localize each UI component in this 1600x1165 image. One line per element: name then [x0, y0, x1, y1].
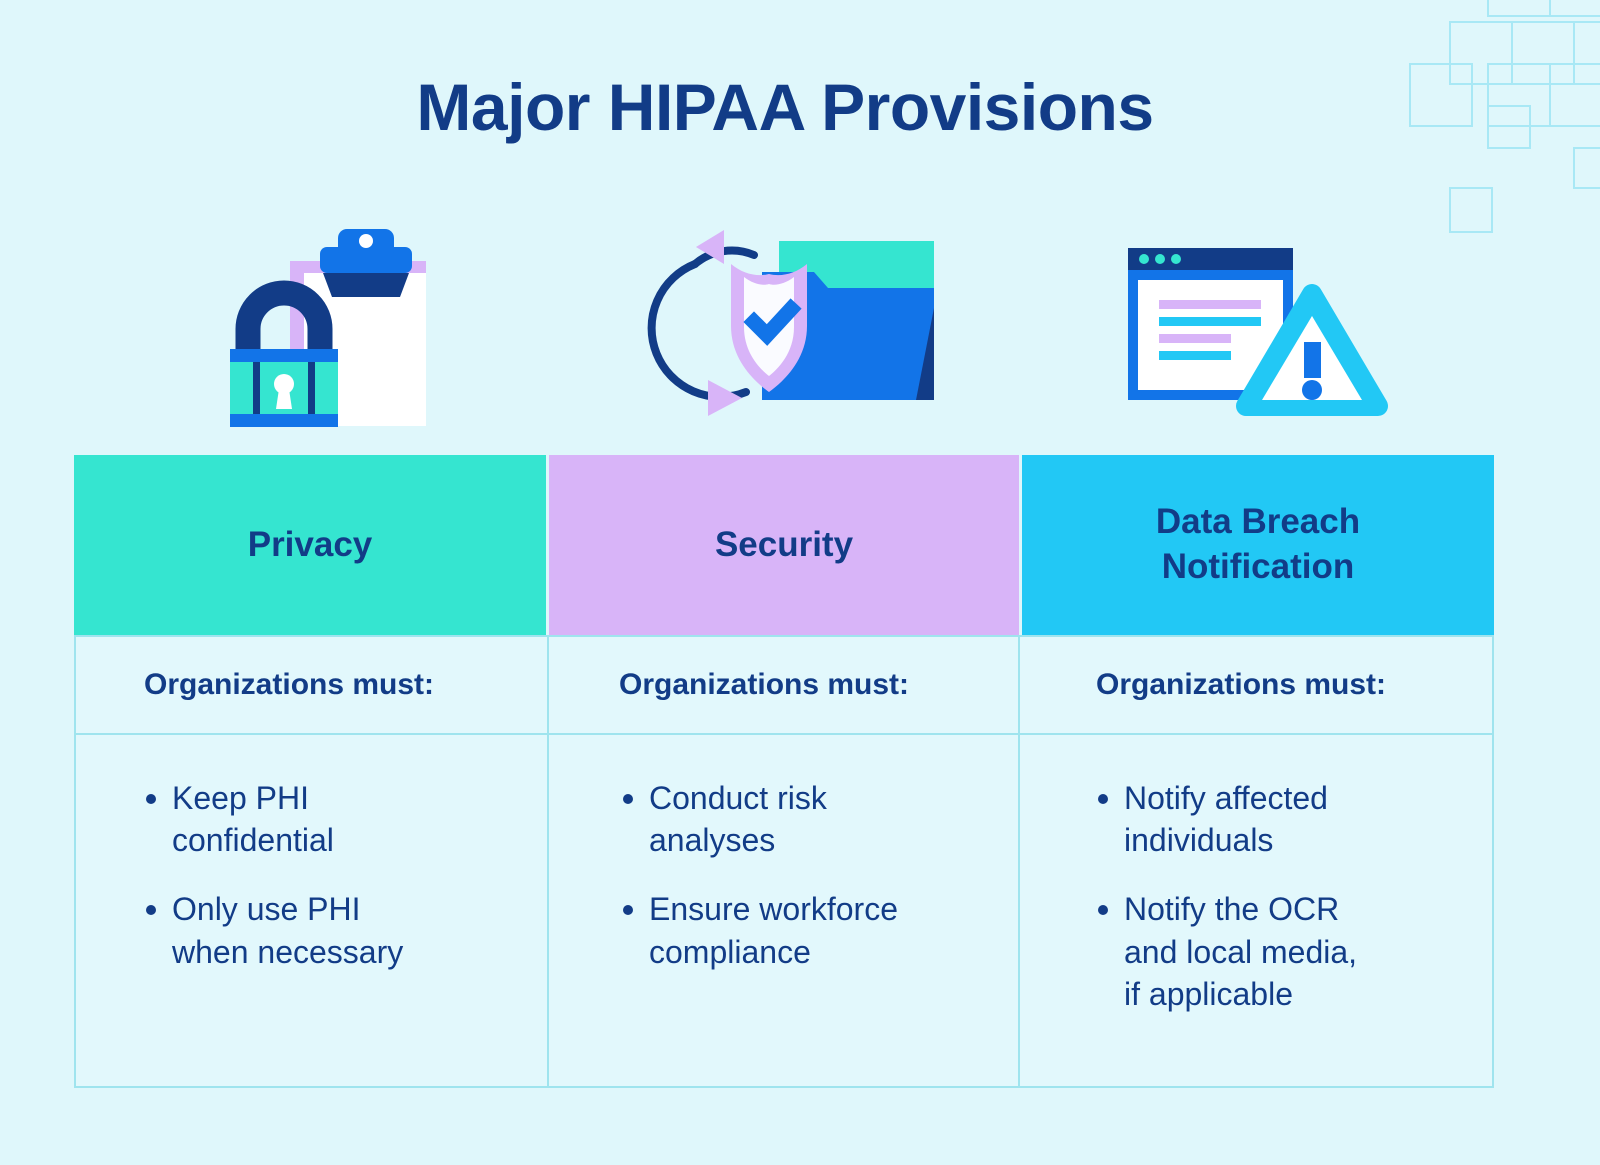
- list-item: Keep PHI confidential: [172, 777, 523, 861]
- column-header-security: Security: [549, 455, 1019, 635]
- icon-cell-security: [547, 212, 1020, 444]
- icon-cell-data-breach: [1021, 212, 1494, 444]
- lock-clipboard-icon: [186, 221, 436, 436]
- bullets-cell-security: Conduct risk analyses Ensure workforce c…: [549, 735, 1020, 1086]
- list-item: Notify the OCR and local media, if appli…: [1124, 888, 1468, 1015]
- shield-folder-icon: [634, 228, 934, 428]
- subhead-security: Organizations must:: [549, 668, 909, 702]
- table-subhead-row: Organizations must: Organizations must: …: [74, 635, 1494, 733]
- subhead-data-breach: Organizations must:: [1020, 668, 1386, 702]
- column-header-data-breach-label-line1: Data Breach: [1156, 500, 1360, 545]
- list-item: Ensure workforce compliance: [649, 888, 994, 972]
- page-title: Major HIPAA Provisions: [0, 74, 1570, 140]
- column-header-data-breach: Data Breach Notification: [1022, 455, 1494, 635]
- subhead-privacy: Organizations must:: [76, 668, 434, 702]
- bullet-list-security: Conduct risk analyses Ensure workforce c…: [615, 777, 994, 973]
- subhead-cell-data-breach: Organizations must:: [1020, 637, 1492, 733]
- bullet-list-privacy: Keep PHI confidential Only use PHI when …: [138, 777, 523, 973]
- subhead-cell-privacy: Organizations must:: [76, 637, 549, 733]
- subhead-cell-security: Organizations must:: [549, 637, 1020, 733]
- list-item: Notify affected individuals: [1124, 777, 1468, 861]
- column-header-data-breach-label-line2: Notification: [1156, 545, 1360, 590]
- list-item: Only use PHI when necessary: [172, 888, 523, 972]
- bullets-cell-data-breach: Notify affected individuals Notify the O…: [1020, 735, 1492, 1086]
- icon-row: [74, 212, 1494, 444]
- list-item: Conduct risk analyses: [649, 777, 994, 861]
- column-header-security-label: Security: [715, 523, 853, 568]
- provisions-table: Privacy Security Data Breach Notificatio…: [74, 455, 1494, 1088]
- table-header-row: Privacy Security Data Breach Notificatio…: [74, 455, 1494, 635]
- column-header-privacy-label: Privacy: [248, 523, 373, 568]
- table-bullets-row: Keep PHI confidential Only use PHI when …: [74, 733, 1494, 1088]
- bullets-cell-privacy: Keep PHI confidential Only use PHI when …: [76, 735, 549, 1086]
- bullet-list-data-breach: Notify affected individuals Notify the O…: [1090, 777, 1468, 1015]
- column-header-privacy: Privacy: [74, 455, 546, 635]
- browser-alert-icon: [1122, 238, 1392, 418]
- icon-cell-privacy: [74, 212, 547, 444]
